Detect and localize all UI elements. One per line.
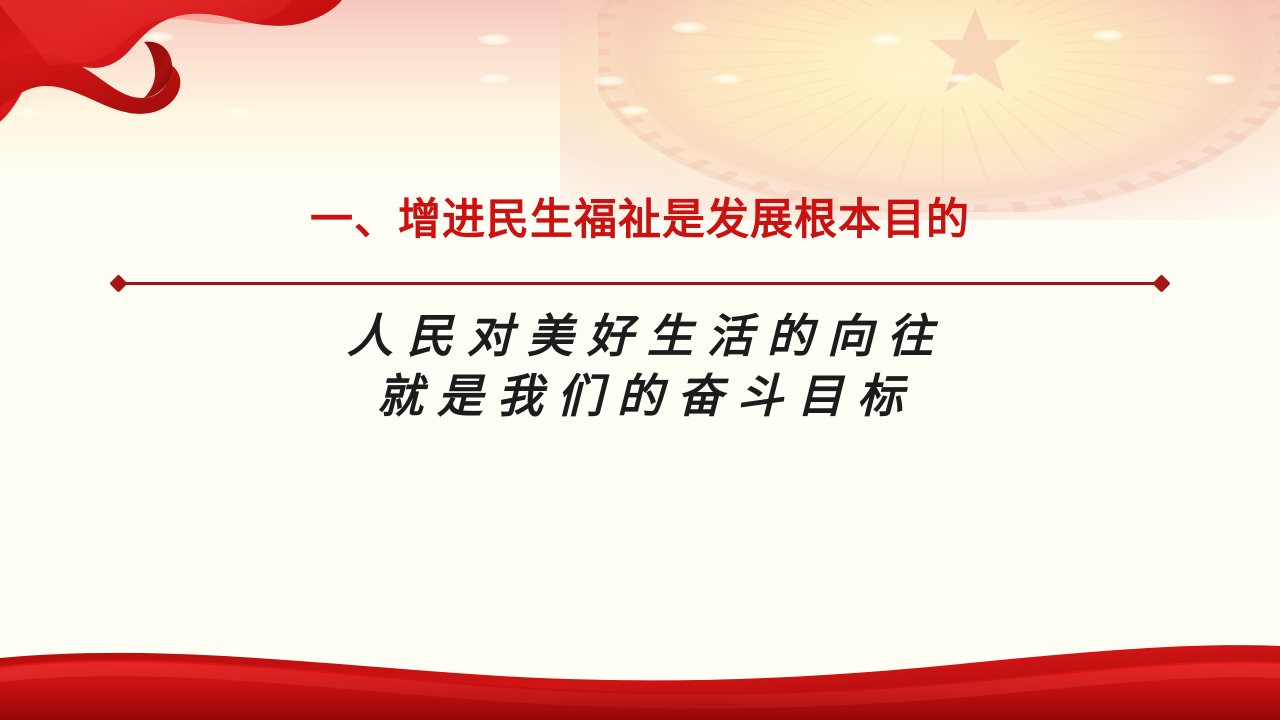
red-flag-decoration-icon bbox=[0, 0, 374, 164]
subtitle-line-2: 就是我们的奋斗目标 bbox=[0, 366, 1280, 426]
light-speck bbox=[1092, 30, 1124, 41]
light-speck bbox=[672, 22, 706, 33]
light-speck bbox=[620, 106, 648, 115]
light-speck bbox=[478, 34, 510, 45]
slide-canvas: 一、增进民生福祉是发展根本目的 人民对美好生活的向往 就是我们的奋斗目标 bbox=[0, 0, 1280, 720]
divider-rule bbox=[118, 282, 1162, 285]
light-speck bbox=[480, 74, 510, 84]
subtitle-block: 人民对美好生活的向往 就是我们的奋斗目标 bbox=[0, 306, 1280, 426]
light-speck bbox=[594, 76, 624, 86]
divider-right-diamond-icon bbox=[1152, 274, 1170, 292]
light-speck bbox=[945, 74, 973, 83]
light-speck bbox=[870, 34, 902, 45]
subtitle-line-1: 人民对美好生活的向往 bbox=[0, 306, 1280, 366]
light-speck bbox=[1206, 74, 1236, 84]
divider bbox=[112, 277, 1168, 290]
red-wave-decoration-icon bbox=[0, 610, 1280, 720]
page-title: 一、增进民生福祉是发展根本目的 bbox=[0, 196, 1280, 245]
light-speck bbox=[712, 74, 742, 84]
